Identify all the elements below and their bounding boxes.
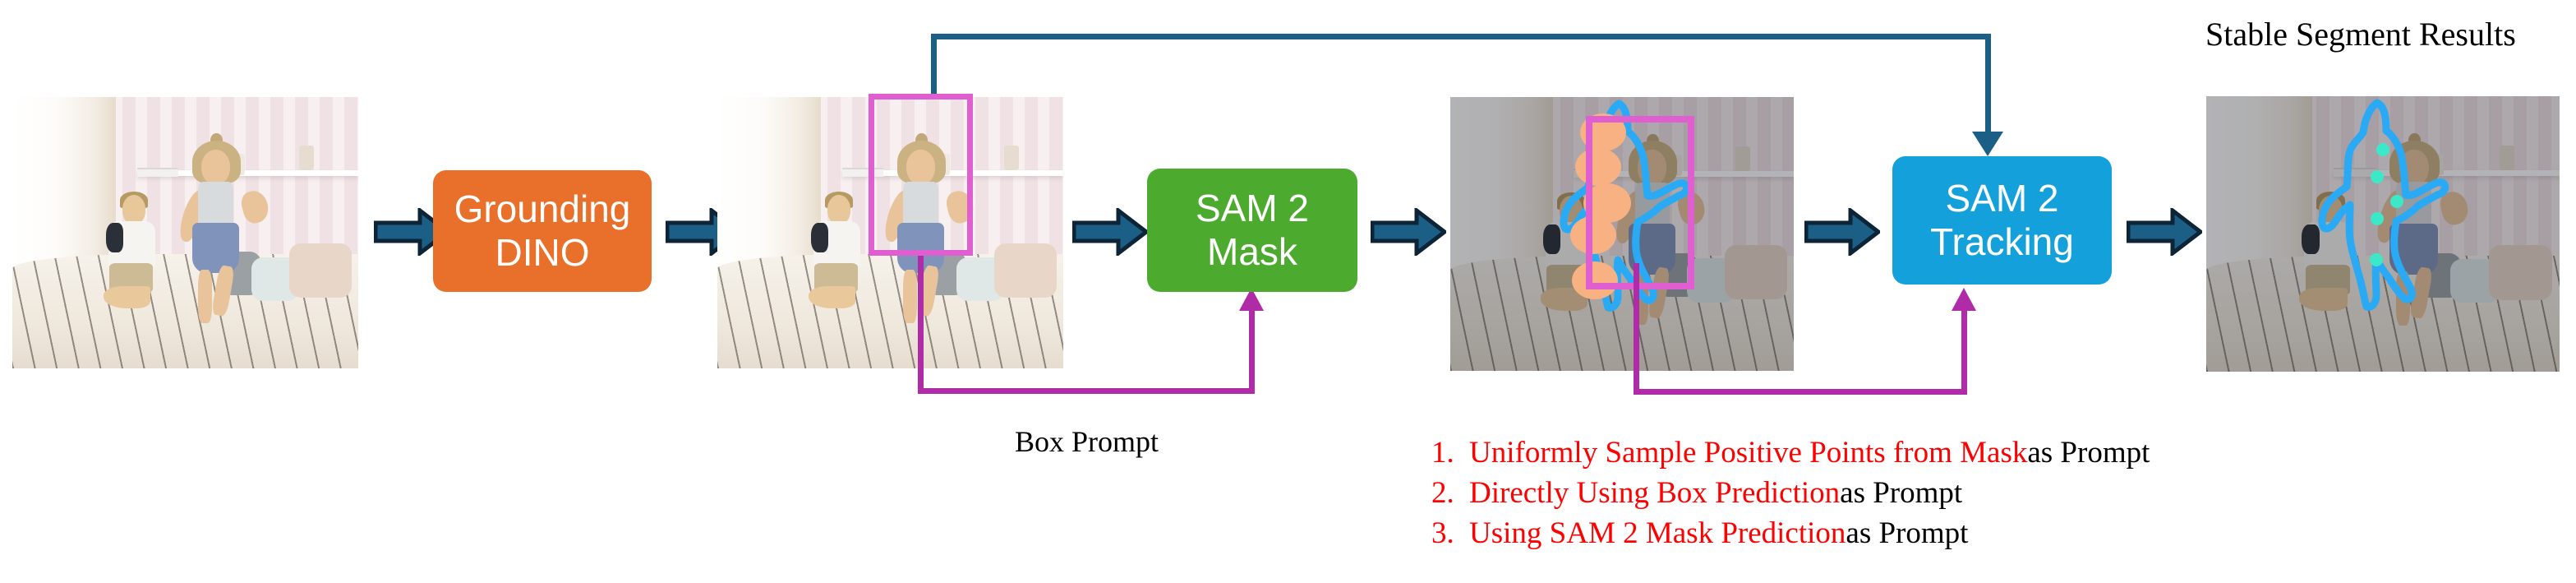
girl-top [198, 182, 233, 229]
shelf-vase-b [1004, 146, 1019, 170]
tracking-point [2371, 170, 2384, 183]
prompt-option-3-number: 3. [1431, 514, 1469, 554]
box-prompt-riser-down [918, 256, 924, 394]
pillow-beige [289, 243, 352, 298]
points-prompt-arrowhead-icon [1952, 288, 1976, 311]
tracking-point [2371, 212, 2384, 225]
prompt-option-1-black-text: as Prompt [2027, 433, 2150, 474]
feedback-connector-left-riser [931, 34, 937, 96]
panel-input-scene [12, 97, 358, 368]
tracking-point [2390, 195, 2403, 208]
boy-legs [104, 286, 150, 309]
girl-leg-left [198, 270, 212, 323]
points-prompt-riser-up [1961, 308, 1967, 395]
process-box-sam2-mask[interactable]: SAM 2 Mask [1147, 169, 1357, 292]
panel-input-frame[interactable] [12, 97, 358, 368]
prompt-option-2-black-text: as Prompt [1840, 474, 1962, 514]
prompt-options-list: 1. Uniformly Sample Positive Points from… [1431, 433, 2150, 553]
wall-shelf-small [137, 168, 179, 177]
points-prompt-horizontal [1634, 389, 1967, 395]
arrow-sam2-mask-to-points [1371, 208, 1446, 256]
bedroom-scene [12, 97, 358, 368]
arrow-points-to-sam2-tracking [1804, 208, 1880, 256]
figure-root: { "figure": { "title": "Stable Segment R… [0, 0, 2576, 583]
girl-arm-right [239, 188, 272, 226]
boy-head [827, 195, 851, 224]
girl-head [201, 150, 230, 186]
prompt-option-2: 2. Directly Using Box Prediction as Prom… [1431, 474, 2150, 514]
feedback-connector-arrowhead-icon [1972, 132, 2003, 156]
prompt-option-3: 3. Using SAM 2 Mask Prediction as Prompt [1431, 514, 2150, 554]
prompt-bounding-box [1586, 116, 1694, 289]
child-boy [807, 195, 866, 309]
box-prompt-riser-up [1249, 308, 1255, 394]
boy-legs [809, 286, 855, 309]
boy-head [122, 195, 146, 224]
tracking-point [2370, 253, 2383, 266]
process-box-sam2-tracking[interactable]: SAM 2 Tracking [1892, 156, 2112, 285]
arrow-detection-to-sam2-mask [1072, 208, 1148, 256]
feedback-connector-right-riser [1985, 34, 1991, 136]
segmentation-mask-outline [2206, 96, 2560, 372]
prompt-option-1: 1. Uniformly Sample Positive Points from… [1431, 433, 2150, 474]
points-prompt-riser-down [1634, 263, 1639, 395]
arrow-sam2-tracking-to-result [2127, 208, 2202, 256]
boy-sleeve [811, 223, 828, 252]
shelf-vase-b [299, 146, 314, 170]
box-prompt-label: Box Prompt [1015, 424, 1159, 459]
box-prompt-horizontal [918, 388, 1255, 394]
process-box-grounding-dino[interactable]: Grounding DINO [433, 170, 652, 292]
prompt-option-3-black-text: as Prompt [1846, 514, 1968, 554]
panel-result-scene [2206, 96, 2560, 372]
feedback-connector-horizontal [931, 34, 1991, 39]
girl-leg-left [903, 270, 917, 323]
child-girl [178, 141, 255, 320]
prompt-option-1-red-text: Uniformly Sample Positive Points from Ma… [1469, 433, 2027, 474]
prompt-option-2-number: 2. [1431, 474, 1469, 514]
stable-segment-results-title: Stable Segment Results [2205, 15, 2516, 53]
panel-tracking-result-frame[interactable] [2206, 96, 2560, 372]
prompt-option-2-red-text: Directly Using Box Prediction [1469, 474, 1840, 514]
boy-sleeve [106, 223, 123, 252]
tracking-point [2376, 143, 2389, 156]
girl-skirt [192, 223, 239, 273]
prompt-option-1-number: 1. [1431, 433, 1469, 474]
pillow-beige [994, 243, 1057, 298]
detection-bounding-box [869, 94, 973, 256]
child-boy [102, 195, 161, 309]
prompt-option-3-red-text: Using SAM 2 Mask Prediction [1469, 514, 1846, 554]
